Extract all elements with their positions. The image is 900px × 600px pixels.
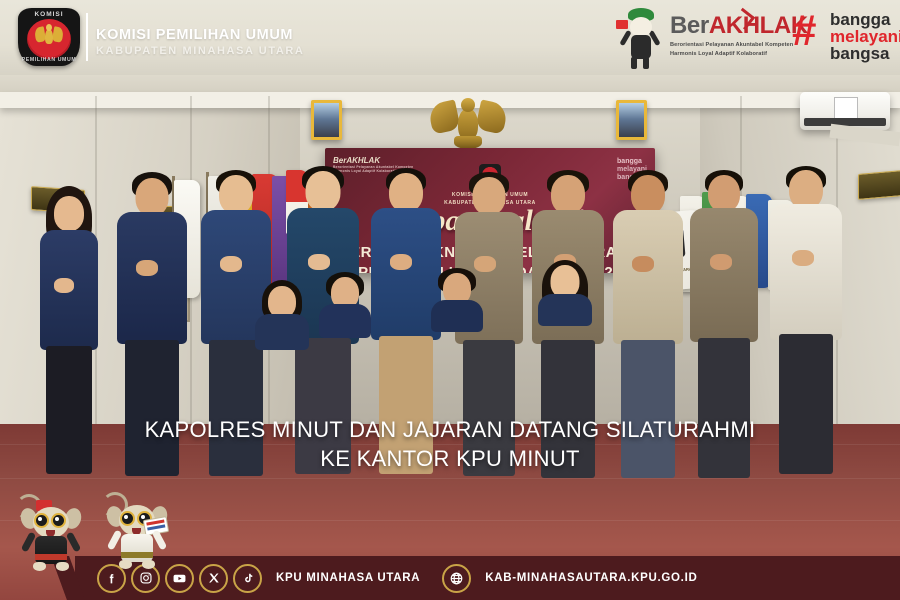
attendee-person	[254, 280, 310, 350]
kpu-logo-icon: KOMISI PEMILIHAN UMUM	[18, 8, 80, 66]
tarsius-mascot-left	[22, 492, 80, 580]
mini-flag-icon	[616, 20, 628, 29]
x-twitter-icon[interactable]	[199, 564, 228, 593]
mascot-eye	[51, 513, 66, 528]
social-handle: KPU MINAHASA UTARA	[276, 572, 420, 584]
vice-president-portrait	[616, 100, 647, 140]
poster-header: KOMISI PEMILIHAN UMUM KOMISI PEMILIHAN U…	[0, 0, 900, 75]
wall-sign-anggota	[858, 170, 900, 200]
tarsius-mascot-right	[108, 490, 166, 578]
mascot-eye	[34, 513, 49, 528]
caption-line-1: KAPOLRES MINUT DAN JAJARAN DATANG SILATU…	[0, 415, 900, 444]
website-url: KAB-MINAHASAUTARA.KPU.GO.ID	[485, 572, 697, 584]
header-divider	[86, 13, 88, 61]
tiktok-icon[interactable]	[233, 564, 262, 593]
poster-footer: KPU MINAHASA UTARA KAB-MINAHASAUTARA.KPU…	[75, 556, 900, 600]
attendee-person	[430, 268, 484, 332]
header-mascot-icon	[614, 8, 666, 70]
globe-icon[interactable]	[442, 564, 471, 593]
berakhlak-ber: Ber	[670, 12, 709, 39]
youtube-icon[interactable]	[165, 564, 194, 593]
bangga-line-1: bangga	[830, 11, 900, 28]
kpu-logo-top-text: KOMISI	[18, 11, 80, 18]
photo-caption: KAPOLRES MINUT DAN JAJARAN DATANG SILATU…	[0, 415, 900, 473]
bangga-line-2: melayani	[830, 28, 900, 45]
kpu-logo-bottom-text: PEMILIHAN UMUM	[18, 57, 80, 63]
caption-line-2: KE KANTOR KPU MINUT	[0, 444, 900, 473]
header-subtitle: KABUPATEN MINAHASA UTARA	[96, 45, 304, 57]
garuda-pancasila-emblem	[432, 96, 504, 152]
hash-icon: #	[792, 13, 816, 49]
poster-canvas: BerAKHLAK Berorientasi Pelayanan Akuntab…	[0, 0, 900, 600]
attendee-person	[536, 260, 594, 332]
berakhlak-tagline-2: Harmonis Loyal Adaptif Kolaboratif	[670, 50, 808, 59]
berakhlak-tagline-1: Berorientasi Pelayanan Akuntabel Kompete…	[670, 41, 808, 50]
president-portrait	[311, 100, 342, 140]
air-conditioner	[800, 92, 890, 130]
bangga-line-3: bangsa	[830, 45, 900, 62]
mascot-eye	[120, 511, 135, 526]
header-title: KOMISI PEMILIHAN UMUM	[96, 27, 293, 43]
attendee-person	[318, 272, 372, 338]
